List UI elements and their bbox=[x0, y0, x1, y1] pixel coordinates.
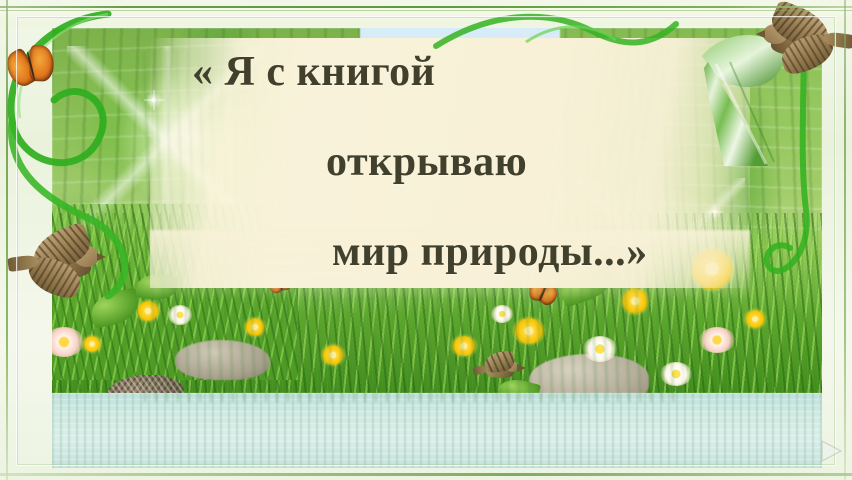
frame-border-bottom bbox=[0, 473, 852, 476]
next-slide-button[interactable] bbox=[818, 438, 844, 464]
title-line-3: мир природы...» bbox=[332, 228, 648, 276]
frame-border-top bbox=[0, 6, 852, 8]
frame-border-right bbox=[844, 0, 846, 480]
title-line-2: открываю bbox=[326, 138, 527, 186]
frame-border-top-secondary bbox=[0, 10, 852, 11]
presentation-slide: « Я с книгой открываю мир природы...» bbox=[0, 0, 852, 480]
frame-border-left bbox=[6, 0, 8, 480]
title-line-1: « Я с книгой bbox=[192, 48, 435, 96]
slide-title: « Я с книгой открываю мир природы...» bbox=[150, 42, 760, 292]
